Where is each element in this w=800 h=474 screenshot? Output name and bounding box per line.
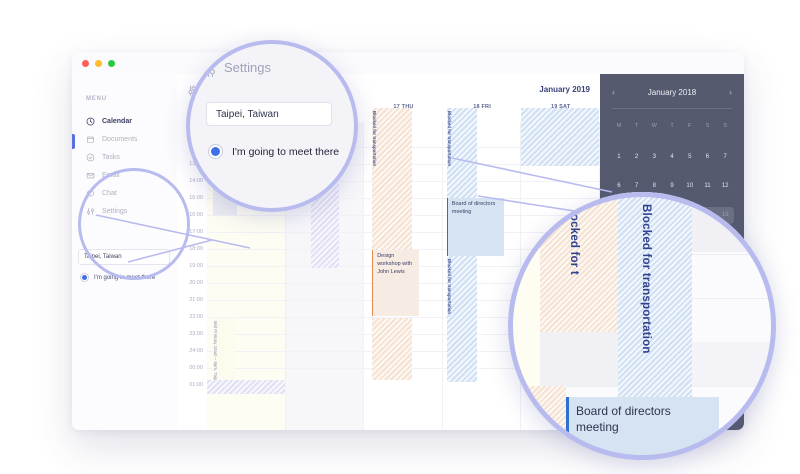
calendar-cell[interactable] (540, 332, 618, 386)
time-label: 22:00 (189, 314, 203, 320)
time-label: 18:00 (189, 246, 203, 252)
time-label: 19:00 (189, 263, 203, 269)
day-cell[interactable]: 2 (628, 149, 646, 166)
blocked-transport-block-lower[interactable] (508, 386, 566, 460)
weekday-label: F (681, 118, 699, 135)
event-block[interactable]: Blocked for transportation (447, 256, 477, 382)
calendar-magnifier: Blocked for t Blocked for transportation… (508, 192, 776, 460)
time-label: 01:00 (189, 382, 203, 388)
event-block[interactable] (207, 380, 285, 394)
time-label: 24:00 (189, 348, 203, 354)
divider (612, 108, 732, 109)
sidebar-item-label: Calendar (102, 118, 132, 125)
meet-there-label: I'm going to meet there (232, 146, 339, 158)
sidebar-item-label: Documents (102, 136, 137, 143)
mini-calendar-title: January 2018 (648, 88, 696, 97)
minimize-button[interactable] (95, 60, 102, 67)
mini-calendar-header: ‹ January 2018 › (600, 84, 744, 100)
close-button[interactable] (82, 60, 89, 67)
location-input[interactable]: Taipei, Taiwan (206, 102, 332, 126)
day-cell[interactable]: 3 (645, 149, 663, 166)
meet-there-option-small[interactable]: I'm going to meet there (78, 273, 170, 282)
event-label: Board of directors meeting (569, 397, 719, 441)
weekday-label: W (645, 118, 663, 135)
settings-magnifier: Settings Taipei, Taiwan I'm going to mee… (186, 40, 358, 212)
meet-there-label-small: I'm going to meet there (94, 275, 155, 281)
event-label: Blocked for transportation (372, 108, 377, 166)
event-label: Blocked for t (568, 202, 580, 275)
mini-calendar-weekday-row: M T W T F S S (610, 118, 734, 135)
event-block[interactable]: Board of directors meeting (447, 198, 504, 256)
event-block[interactable]: Mid Primary 10am – 9pm, Taipei time (213, 318, 235, 380)
calendar-icon (86, 117, 95, 126)
time-label: 14:00 (189, 178, 203, 184)
calendar-month-title: January 2019 (539, 85, 590, 94)
time-label: 23:00 (189, 331, 203, 337)
weekday-label: T (663, 118, 681, 135)
day-column-thu[interactable]: Blocked for transportation Design worksh… (364, 122, 443, 430)
weekday-label: S (699, 118, 717, 135)
email-icon (86, 171, 95, 180)
time-label: 00:00 (189, 365, 203, 371)
radio-selected-icon[interactable] (208, 144, 223, 159)
board-meeting-block[interactable]: Board of directors meeting (566, 397, 719, 460)
screenshot-root: MENU Calendar Documents (0, 0, 800, 474)
weekday-label: M (610, 118, 628, 135)
time-label: 21:00 (189, 297, 203, 303)
event-label: Mid Primary 10am – 9pm, Taipei time (213, 318, 218, 380)
settings-icon (86, 207, 95, 216)
blocked-transport-block-right[interactable]: Blocked for transportation (618, 192, 692, 400)
event-label: Blocked for transportation (447, 256, 452, 314)
chat-icon (86, 189, 95, 198)
day-cell[interactable]: 5 (681, 149, 699, 166)
event-label: Blocked for transportation (640, 204, 652, 354)
calendar-cell[interactable] (692, 192, 776, 252)
maximize-button[interactable] (108, 60, 115, 67)
documents-icon (86, 135, 95, 144)
chevron-left-icon[interactable]: ‹ (612, 88, 615, 97)
sidebar-settings-panel: Taipei, Taiwan I'm going to meet there (78, 249, 170, 282)
window-titlebar (72, 52, 744, 74)
weekday-label: T (628, 118, 646, 135)
sliders-icon (200, 62, 217, 84)
sidebar: MENU Calendar Documents (72, 74, 178, 430)
sidebar-item-email[interactable]: Email (72, 166, 177, 184)
day-cell[interactable]: 7 (716, 149, 734, 166)
tasks-icon (86, 153, 95, 162)
sidebar-menu-label: MENU (86, 96, 107, 102)
day-cell[interactable]: 4 (663, 149, 681, 166)
weekday-label: S (716, 118, 734, 135)
event-label: Blocked for transportation (447, 108, 452, 166)
time-label: 20:00 (189, 280, 203, 286)
time-label: 17:00 (189, 229, 203, 235)
blocked-transport-block-left[interactable]: Blocked for t (540, 192, 618, 332)
event-block[interactable] (372, 318, 412, 380)
window-controls[interactable] (82, 60, 115, 67)
sidebar-item-chat[interactable]: Chat (72, 184, 177, 202)
settings-title-magnified: Settings (224, 60, 271, 75)
sidebar-nav: Calendar Documents Tasks (72, 112, 177, 220)
calendar-cell[interactable] (692, 342, 776, 386)
sidebar-item-tasks[interactable]: Tasks (72, 148, 177, 166)
event-label: Design workshop with John Lewis (373, 250, 419, 280)
sidebar-item-label: Email (102, 172, 120, 179)
day-cell[interactable]: 6 (699, 149, 717, 166)
event-block[interactable] (521, 108, 599, 166)
mini-calendar-week-row: 1 2 3 4 5 6 7 (610, 149, 734, 166)
radio-selected-icon[interactable] (80, 273, 89, 282)
sidebar-item-settings[interactable]: Settings (72, 202, 177, 220)
time-label: 15:00 (189, 195, 203, 201)
sidebar-item-label: Settings (102, 208, 127, 215)
location-input-small[interactable]: Taipei, Taiwan (78, 249, 170, 265)
sidebar-item-label: Tasks (102, 154, 120, 161)
sidebar-item-documents[interactable]: Documents (72, 130, 177, 148)
event-label: Board of directors meeting (448, 198, 504, 220)
sidebar-item-calendar[interactable]: Calendar (72, 112, 177, 130)
meet-there-option[interactable]: I'm going to meet there (208, 144, 339, 159)
chevron-right-icon[interactable]: › (729, 88, 732, 97)
time-label: 16:00 (189, 212, 203, 218)
event-block[interactable]: Design workshop with John Lewis (372, 250, 419, 316)
sidebar-item-label: Chat (102, 190, 117, 197)
day-cell[interactable]: 1 (610, 149, 628, 166)
